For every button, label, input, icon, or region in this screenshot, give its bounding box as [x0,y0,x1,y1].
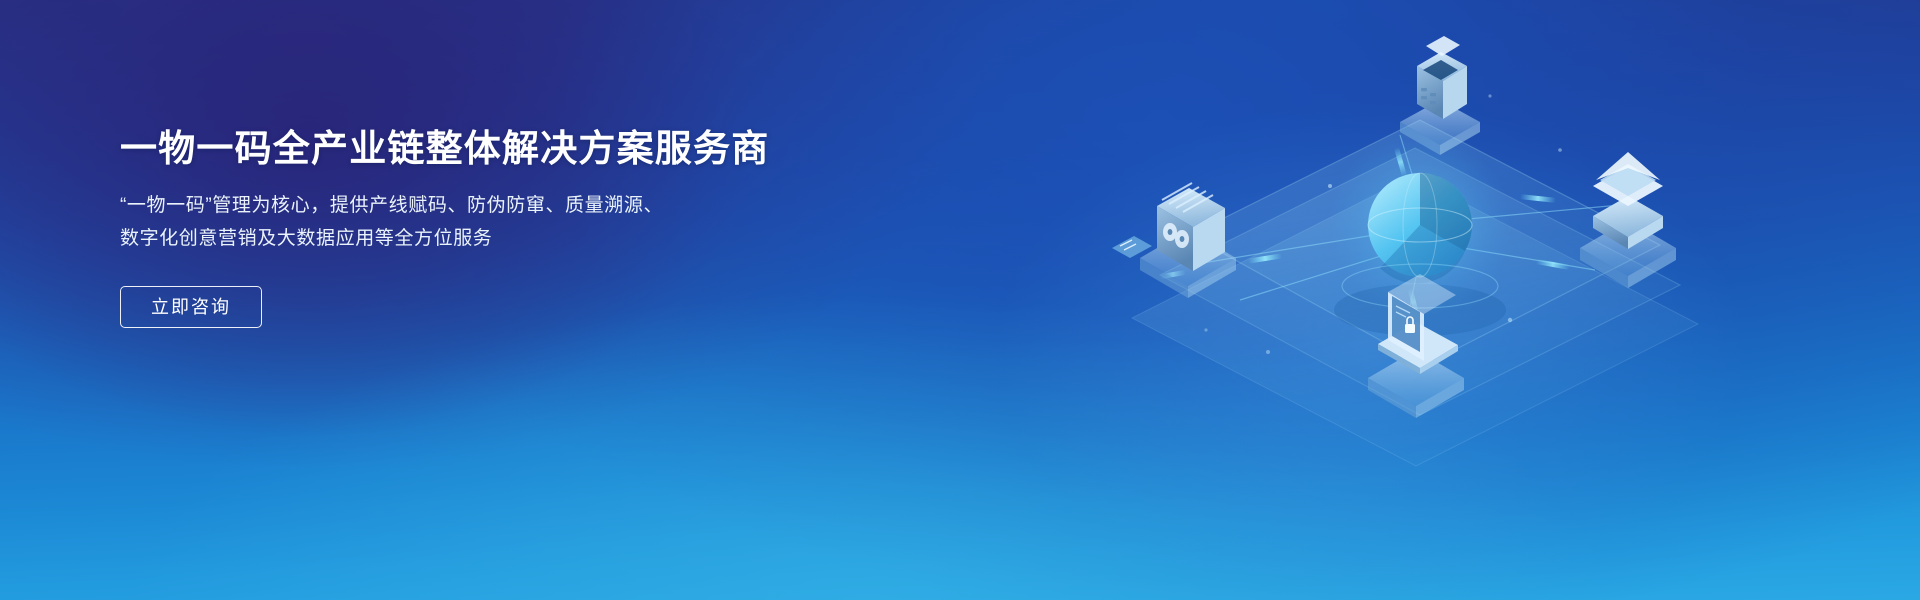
isometric-illustration [860,0,1920,600]
hero-banner: 一物一码全产业链整体解决方案服务商 “一物一码”管理为核心，提供产线赋码、防伪防… [0,0,1920,600]
hero-headline: 一物一码全产业链整体解决方案服务商 [120,126,880,172]
hero-copy: 一物一码全产业链整体解决方案服务商 “一物一码”管理为核心，提供产线赋码、防伪防… [120,126,880,328]
consult-now-button[interactable]: 立即咨询 [120,286,262,328]
hero-subtitle-line-1: “一物一码”管理为核心，提供产线赋码、防伪防窜、质量溯源、 [120,189,880,222]
hero-subtitle-line-2: 数字化创意营销及大数据应用等全方位服务 [120,222,880,255]
server-rack-node [1112,183,1236,298]
hero-subtitle: “一物一码”管理为核心，提供产线赋码、防伪防窜、质量溯源、 数字化创意营销及大数… [120,189,880,255]
pos-terminal-node [1400,36,1480,155]
